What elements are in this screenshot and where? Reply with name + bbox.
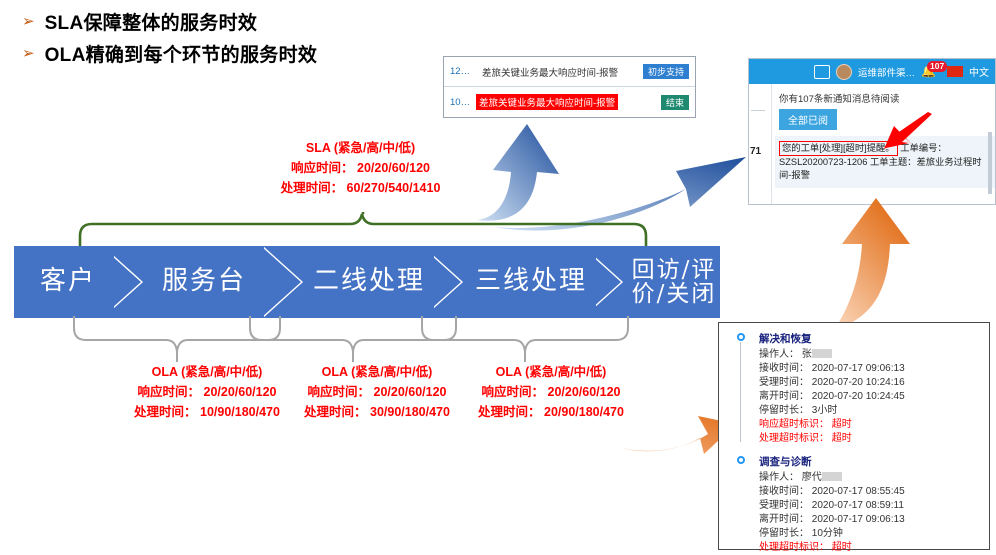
flow-stage-second-line[interactable]: 二线处理 bbox=[304, 246, 434, 318]
flow-stage-label: 服务台 bbox=[162, 268, 246, 295]
activity-received-time: 接收时间： 2020-07-17 08:55:45 bbox=[759, 485, 979, 499]
alarm-row[interactable]: 12… 差旅关键业务最大响应时间-报警 初步支持 bbox=[444, 57, 695, 87]
user-name[interactable]: 运维部件渠… bbox=[858, 65, 915, 79]
bullet-text: OLA精确到每个环节的服务时效 bbox=[45, 40, 318, 67]
flow-stage-third-line[interactable]: 三线处理 bbox=[466, 246, 596, 318]
page-gutter: 71 bbox=[749, 84, 772, 205]
activity-operator-label: 操作人： 张 bbox=[759, 349, 812, 360]
activity-operator: 操作人： 张 bbox=[759, 348, 979, 362]
red-pointer-arrow-icon bbox=[882, 112, 934, 150]
notification-header-bar: 运维部件渠… 🔔 107 中文 bbox=[749, 59, 995, 84]
bullet-text: SLA保障整体的服务时效 bbox=[45, 8, 258, 35]
activity-operator-label: 操作人： 廖代 bbox=[759, 472, 822, 483]
alarm-row[interactable]: 10… 差旅关键业务最大响应时间-报警 结束 bbox=[444, 87, 695, 117]
ola-response-time: 响应时间： 20/20/60/120 bbox=[436, 382, 666, 402]
ola-title: OLA (紧急/高/中/低) bbox=[436, 362, 666, 382]
activity-handle-overtime-flag: 处理超时标识： 超时 bbox=[759, 432, 979, 446]
alarm-list-card: 12… 差旅关键业务最大响应时间-报警 初步支持 10… 差旅关键业务最大响应时… bbox=[443, 56, 696, 118]
activity-leave-time: 离开时间： 2020-07-20 10:24:45 bbox=[759, 390, 979, 404]
orange-curved-arrow-up-icon bbox=[832, 196, 918, 332]
notification-panel: 运维部件渠… 🔔 107 中文 71 你有107条新通知消息待阅读 全部已阅 您… bbox=[748, 58, 996, 205]
screen-icon[interactable] bbox=[814, 65, 830, 79]
activity-title: 解决和恢复 bbox=[759, 331, 979, 346]
activity-response-overtime-flag: 响应超时标识： 超时 bbox=[759, 418, 979, 432]
sla-handle-time: 处理时间： 60/270/540/1410 bbox=[258, 178, 463, 198]
flow-stage-customer[interactable]: 客户 bbox=[22, 246, 114, 318]
flow-stage-service-desk[interactable]: 服务台 bbox=[144, 246, 264, 318]
flow-stage-label: 三线处理 bbox=[475, 268, 587, 295]
flow-stage-label: 二线处理 bbox=[313, 268, 425, 295]
activity-accept-time: 受理时间： 2020-07-17 08:59:11 bbox=[759, 499, 979, 513]
activity-leave-time: 离开时间： 2020-07-17 09:06:13 bbox=[759, 513, 979, 527]
alarm-status-badge: 结束 bbox=[661, 95, 689, 110]
flow-stage-label: 客户 bbox=[40, 268, 96, 295]
timeline-dot-icon bbox=[737, 456, 745, 464]
redacted-name bbox=[822, 472, 842, 481]
notification-message-highlight: 您的工单[处理][超时]提醒。 bbox=[779, 141, 898, 156]
flow-stage-followup-close[interactable]: 回访/评 价/关闭 bbox=[628, 246, 720, 318]
alarm-name-alert: 差旅关键业务最大响应时间-报警 bbox=[476, 94, 618, 110]
redacted-name bbox=[812, 349, 832, 358]
gutter-number: 71 bbox=[750, 146, 761, 157]
activity-received-time: 接收时间： 2020-07-17 09:06:13 bbox=[759, 362, 979, 376]
bell-icon[interactable]: 🔔 107 bbox=[921, 64, 941, 79]
activity-duration: 停留时长： 3小时 bbox=[759, 404, 979, 418]
activity-title: 调查与诊断 bbox=[759, 454, 979, 469]
activity-duration: 停留时长： 10分钟 bbox=[759, 527, 979, 541]
activity-item: 调查与诊断 操作人： 廖代 接收时间： 2020-07-17 08:55:45 … bbox=[729, 454, 979, 555]
process-flow: 客户 服务台 二线处理 三线处理 回访/评 价/关闭 bbox=[14, 246, 814, 318]
avatar[interactable] bbox=[836, 64, 852, 80]
flag-icon bbox=[947, 66, 963, 77]
activity-item: 解决和恢复 操作人： 张 接收时间： 2020-07-17 09:06:13 受… bbox=[729, 331, 979, 446]
arrow-bullet-icon: ➢ bbox=[22, 14, 35, 29]
flow-stage-label-line1: 回访/评 bbox=[632, 258, 717, 282]
arrow-bullet-icon: ➢ bbox=[22, 46, 35, 61]
language-switch[interactable]: 中文 bbox=[969, 64, 989, 79]
notification-count-badge: 107 bbox=[927, 61, 947, 72]
bullet-item: ➢ SLA保障整体的服务时效 bbox=[22, 8, 542, 35]
timeline-dot-icon bbox=[737, 333, 745, 341]
flow-stage-label-line2: 价/关闭 bbox=[632, 282, 717, 306]
scrollbar[interactable] bbox=[988, 132, 992, 194]
sla-label-block: SLA (紧急/高/中/低) 响应时间： 20/20/60/120 处理时间： … bbox=[258, 138, 463, 198]
sla-response-time: 响应时间： 20/20/60/120 bbox=[258, 158, 463, 178]
activity-handle-overtime-flag: 处理超时标识： 超时 bbox=[759, 541, 979, 555]
alarm-id: 10… bbox=[450, 97, 476, 108]
mark-all-read-button[interactable]: 全部已阅 bbox=[779, 109, 837, 130]
alarm-id: 12… bbox=[450, 66, 476, 77]
sla-title: SLA (紧急/高/中/低) bbox=[258, 138, 463, 158]
alarm-status-badge: 初步支持 bbox=[643, 64, 689, 79]
ola-brace-3 bbox=[420, 316, 630, 362]
alarm-name: 差旅关键业务最大响应时间-报警 bbox=[476, 65, 643, 79]
activity-operator: 操作人： 廖代 bbox=[759, 471, 979, 485]
notification-headline: 你有107条新通知消息待阅读 bbox=[779, 91, 995, 105]
timeline-line bbox=[740, 342, 741, 442]
notification-body: 71 你有107条新通知消息待阅读 全部已阅 您的工单[处理][超时]提醒。 工… bbox=[749, 84, 995, 188]
activity-accept-time: 受理时间： 2020-07-20 10:24:16 bbox=[759, 376, 979, 390]
ticket-activity-panel: 解决和恢复 操作人： 张 接收时间： 2020-07-17 09:06:13 受… bbox=[718, 322, 990, 550]
divider bbox=[751, 110, 765, 111]
